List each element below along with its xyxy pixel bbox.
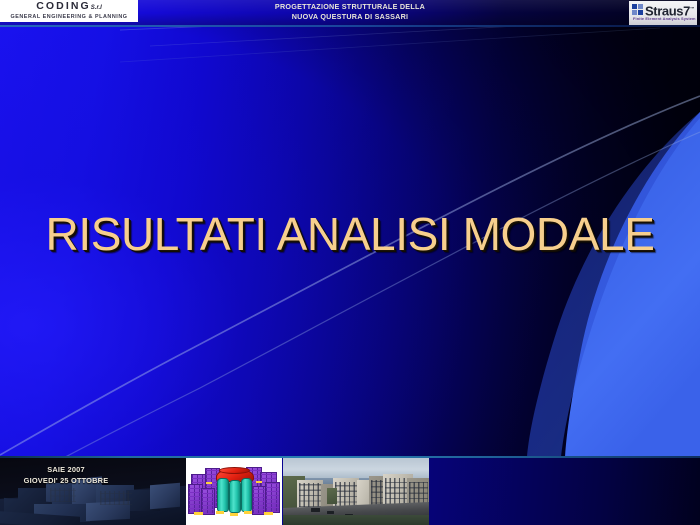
header-divider-rule xyxy=(0,25,700,27)
fem-frame xyxy=(201,488,215,515)
footer-event-date: GIOVEDI' 25 OTTOBRE xyxy=(0,475,132,486)
fem-support xyxy=(256,481,262,483)
fem-support xyxy=(194,512,203,515)
photo-foreground xyxy=(283,515,429,525)
fem-silo xyxy=(229,480,241,513)
render-block xyxy=(150,483,180,510)
fem-support xyxy=(264,512,273,515)
slide-canvas: CODINGS.r.l GENERAL ENGINEERING & PLANNI… xyxy=(0,0,700,525)
coding-logo[interactable]: CODINGS.r.l GENERAL ENGINEERING & PLANNI… xyxy=(0,0,138,22)
fem-silo xyxy=(217,478,229,512)
photo-car xyxy=(327,511,334,514)
swoosh-svg xyxy=(0,0,700,525)
fem-support xyxy=(216,511,224,514)
header-project-title-line1: PROGETTAZIONE STRUTTURALE DELLA xyxy=(222,2,478,12)
render-window-grid xyxy=(50,488,76,502)
header-project-title: PROGETTAZIONE STRUTTURALE DELLA NUOVA QU… xyxy=(222,2,478,21)
render-window-grid xyxy=(100,491,132,505)
grid-cell xyxy=(632,4,637,9)
fem-model-stage xyxy=(186,458,282,525)
fem-silo xyxy=(241,478,252,512)
fem-support xyxy=(230,513,238,516)
coding-logo-wordmark: CODING xyxy=(36,0,91,12)
decorative-swoosh-group xyxy=(0,0,700,525)
straus7-grid-icon xyxy=(632,4,643,15)
footer-event-name: SAIE 2007 xyxy=(0,464,132,475)
header-project-title-line2: NUOVA QUESTURA DI SASSARI xyxy=(222,12,478,22)
grid-cell xyxy=(638,10,643,15)
fem-support xyxy=(206,482,212,484)
coding-logo-tagline: GENERAL ENGINEERING & PLANNING xyxy=(10,14,127,21)
grid-cell xyxy=(638,4,643,9)
fem-model-thumbnail[interactable] xyxy=(186,458,282,525)
straus7-tagline: Finite Element Analysis System xyxy=(633,16,695,21)
straus7-trademark: ™ xyxy=(690,6,694,11)
grid-cell xyxy=(632,10,637,15)
page-title: RISULTATI ANALISI MODALE xyxy=(0,207,700,261)
fem-frame xyxy=(265,482,280,513)
coding-logo-suffix: S.r.l xyxy=(91,5,102,11)
photo-window-grid xyxy=(299,483,321,507)
fem-support xyxy=(244,511,252,514)
footer-event-info: SAIE 2007 GIOVEDI' 25 OTTOBRE xyxy=(0,464,132,486)
fem-cap-top xyxy=(219,467,250,474)
photo-vegetation xyxy=(327,488,337,504)
photo-car xyxy=(311,508,320,512)
coding-logo-name: CODINGS.r.l xyxy=(36,1,102,13)
building-photo-thumbnail[interactable] xyxy=(283,458,429,525)
straus7-logo[interactable]: Straus7™ Finite Element Analysis System xyxy=(629,1,697,25)
